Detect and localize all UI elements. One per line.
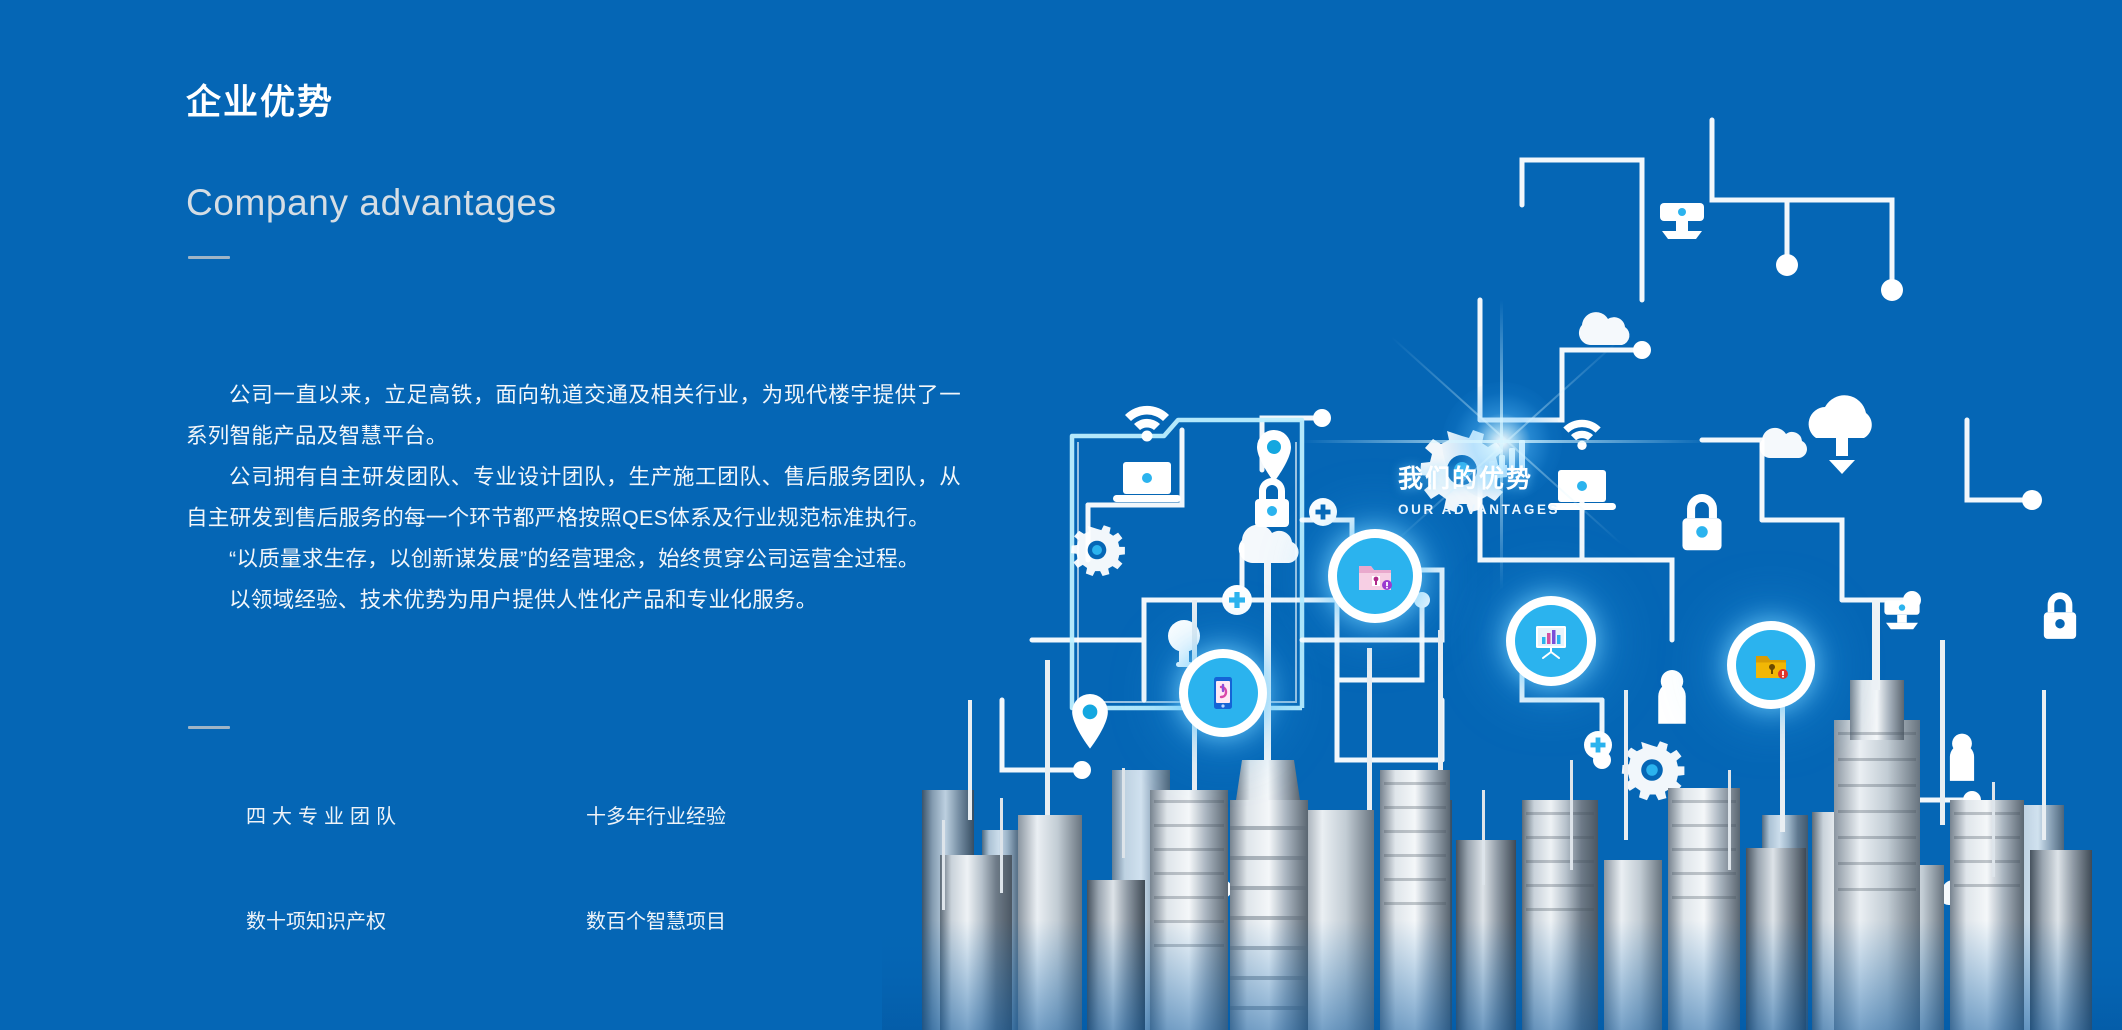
cloud-upload-icon bbox=[1809, 395, 1872, 474]
title-divider bbox=[188, 256, 230, 259]
body-copy: 公司一直以来，立足高铁，面向轨道交通及相关行业，为现代楼宇提供了一系列智能产品及… bbox=[186, 375, 961, 621]
gear-icon-large bbox=[1420, 430, 1507, 512]
secure-folder-badge[interactable] bbox=[1337, 538, 1413, 614]
lock-icon-2 bbox=[1682, 494, 1721, 550]
smartphone-call-badge[interactable] bbox=[1188, 658, 1258, 728]
smart-city-illustration bbox=[882, 0, 2122, 1030]
stat-teams: 四大专业团队 bbox=[246, 805, 586, 829]
stats-divider bbox=[188, 726, 230, 729]
paragraph: “以质量求生存，以创新谋发展”的经营理念，始终贯穿公司运营全过程。 bbox=[186, 539, 961, 580]
protected-folder-badge[interactable] bbox=[1736, 630, 1806, 700]
folder-key-icon bbox=[1751, 645, 1791, 685]
monitor-icon bbox=[1548, 470, 1616, 510]
laptop-icon bbox=[1113, 462, 1181, 502]
content-column: 企业优势 Company advantages 公司一直以来，立足高铁，面向轨道… bbox=[186, 0, 1006, 1030]
stats-row: 数十项知识产权 数百个智慧项目 bbox=[246, 910, 926, 934]
lock-icon bbox=[1255, 478, 1289, 527]
company-advantages-banner: 我们的优势 OUR ADVANTAGES 企业优势 Company advant… bbox=[0, 0, 2122, 1030]
analytics-board-badge[interactable] bbox=[1515, 605, 1587, 677]
stat-experience: 十多年行业经验 bbox=[586, 805, 926, 829]
paragraph: 以领域经验、技术优势为用户提供人性化产品和专业化服务。 bbox=[186, 580, 961, 621]
gear-icon-right bbox=[1071, 525, 1125, 576]
bar-chart-board-icon bbox=[1530, 620, 1572, 662]
wifi-icon-2 bbox=[1563, 420, 1600, 450]
stat-patents: 数十项知识产权 bbox=[246, 910, 586, 934]
paragraph: 公司一直以来，立足高铁，面向轨道交通及相关行业，为现代楼宇提供了一系列智能产品及… bbox=[186, 375, 961, 457]
smart-city-graphic bbox=[882, 0, 2122, 1030]
cctv-camera-icon-2 bbox=[1884, 600, 1919, 629]
cctv-camera-icon bbox=[1660, 203, 1704, 239]
folder-lock-icon bbox=[1353, 554, 1397, 598]
paragraph: 公司拥有自主研发团队、专业设计团队，生产施工团队、售后服务团队，从自主研发到售后… bbox=[186, 457, 961, 539]
map-pin-icon bbox=[1257, 430, 1291, 482]
stat-projects: 数百个智慧项目 bbox=[586, 910, 926, 934]
stats-row: 四大专业团队 十多年行业经验 bbox=[246, 805, 926, 829]
lock-icon-3 bbox=[2044, 592, 2076, 639]
city-skyline bbox=[882, 560, 2122, 1030]
map-pin-icon-2 bbox=[1072, 694, 1108, 749]
stats-grid: 四大专业团队 十多年行业经验 数十项知识产权 数百个智慧项目 bbox=[246, 805, 926, 1015]
smartphone-icon bbox=[1203, 673, 1243, 713]
page-title-en: Company advantages bbox=[186, 181, 557, 225]
page-title-cn: 企业优势 bbox=[186, 82, 334, 124]
